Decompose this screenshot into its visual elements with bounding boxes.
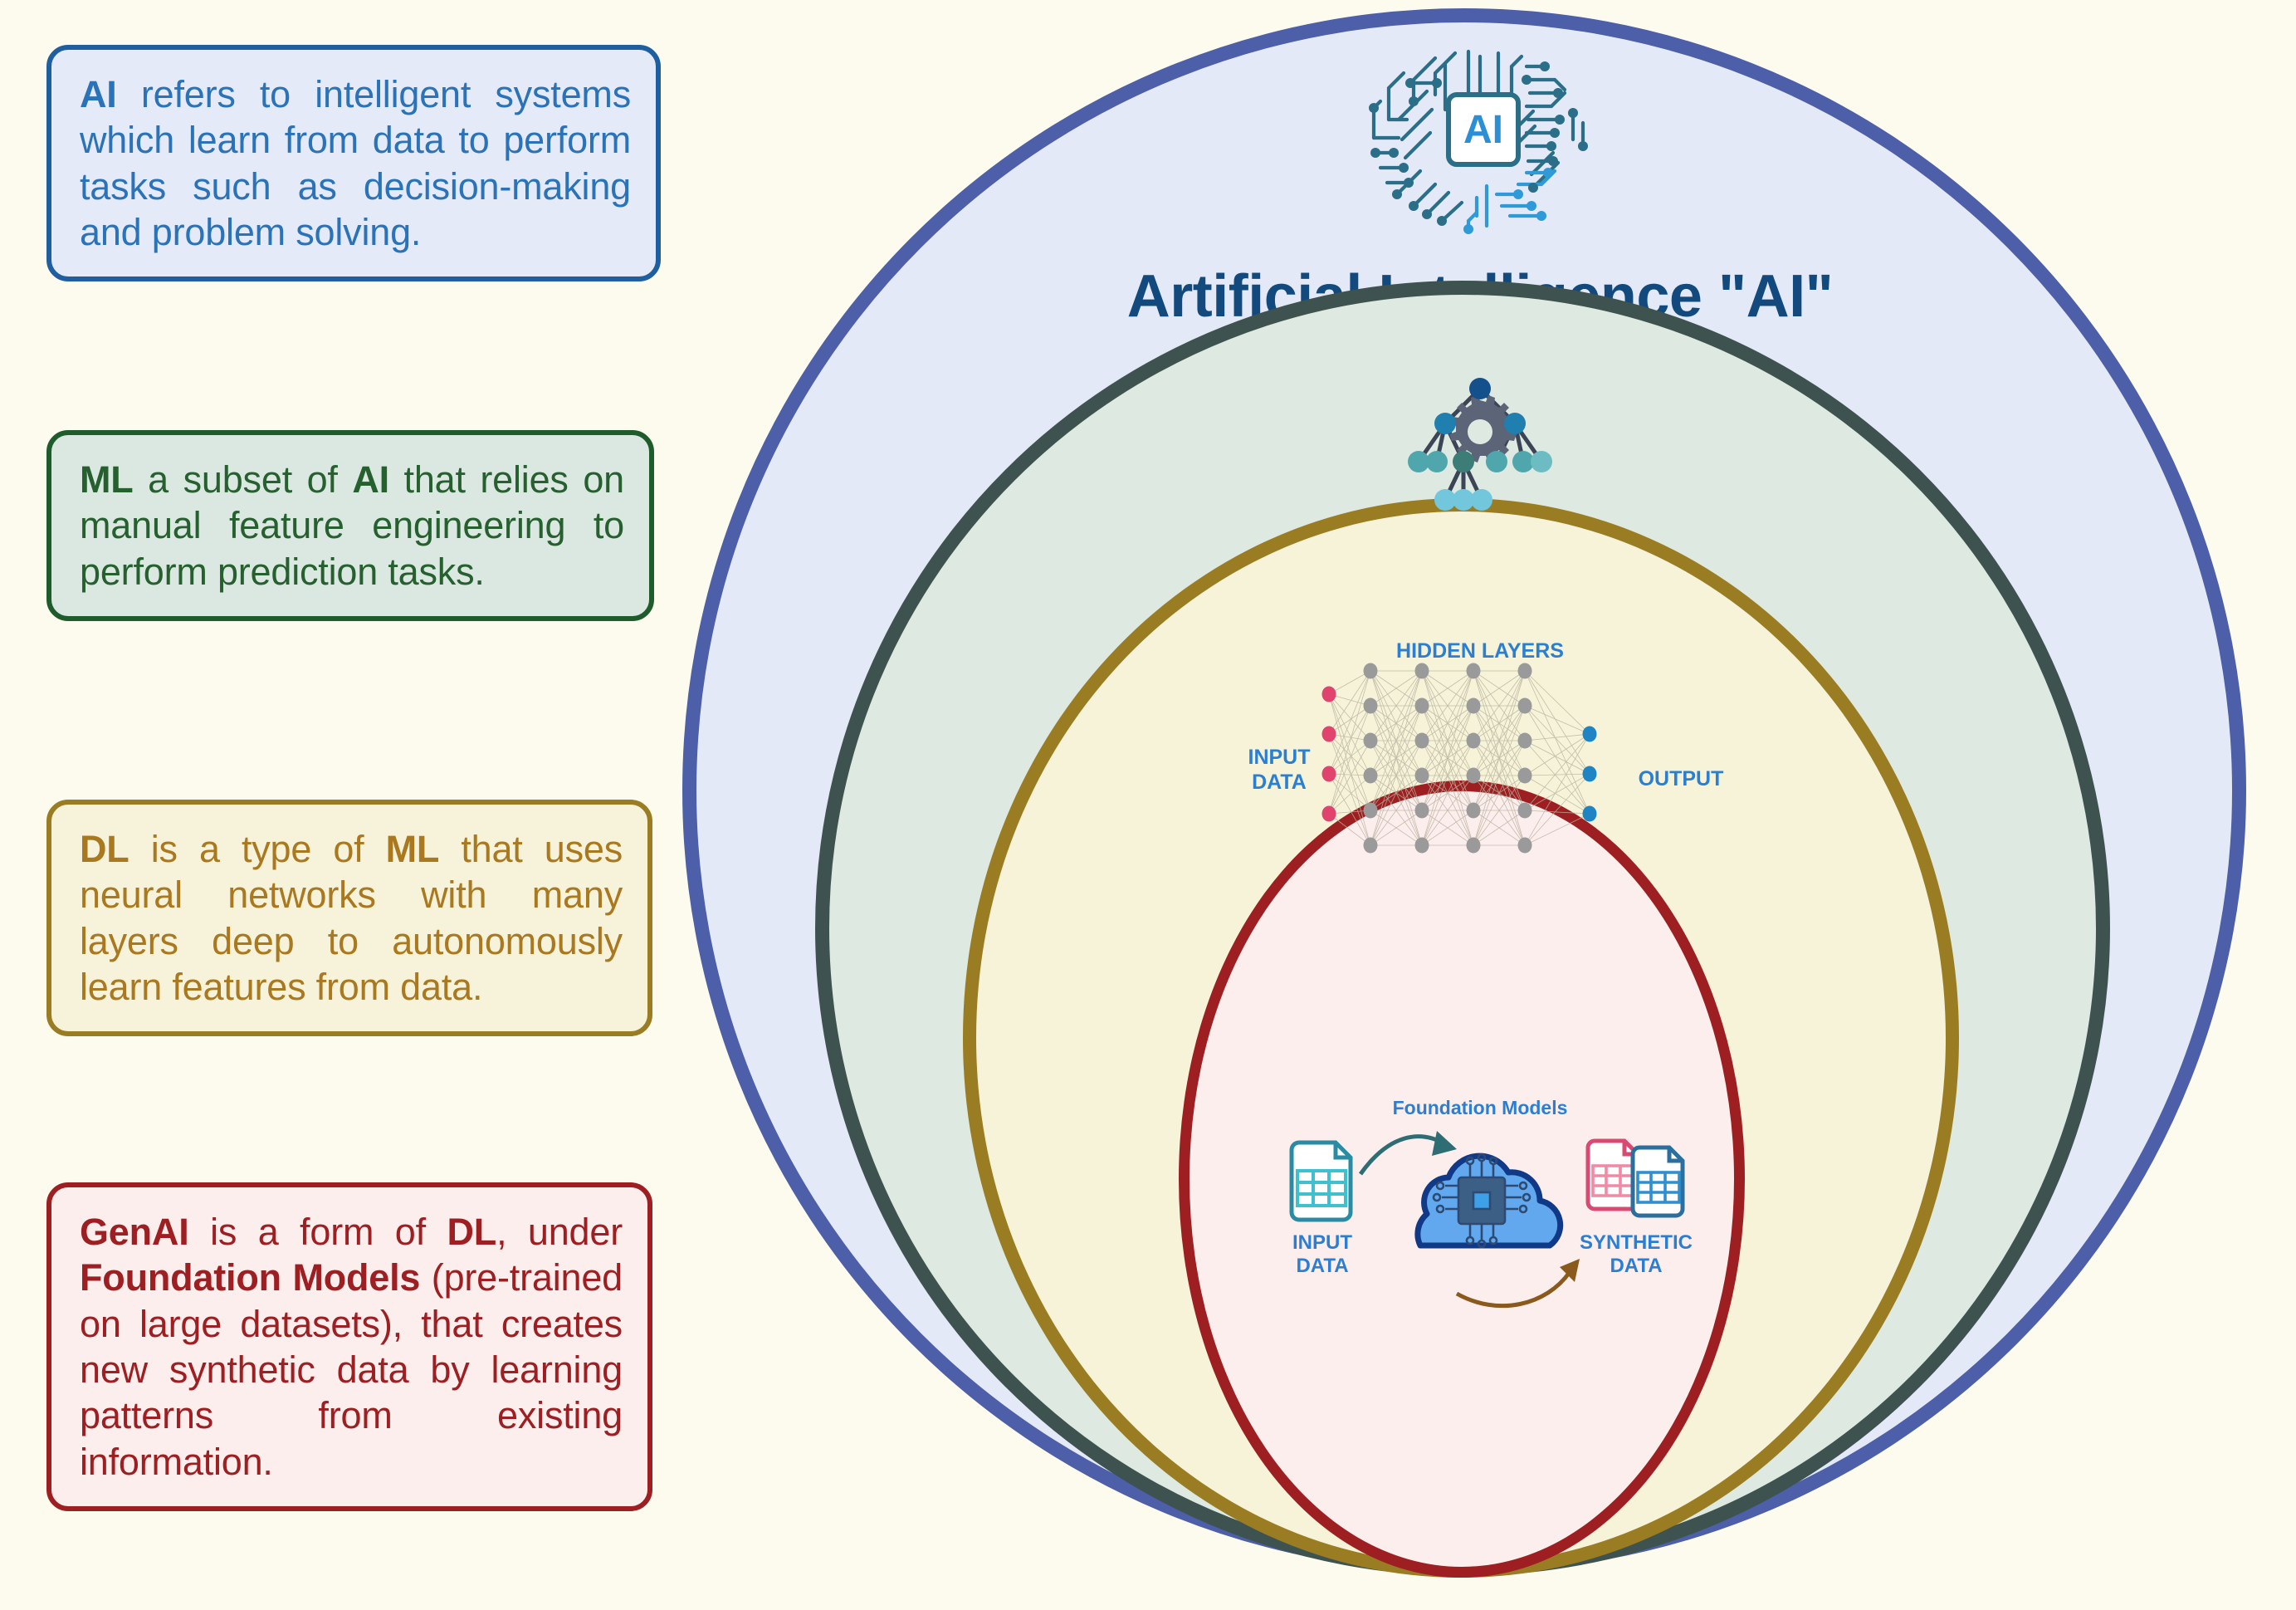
decision-tree-gear-icon xyxy=(664,372,2296,521)
dl-network-svg: HIDDEN LAYERS INPUT DATA OUTPUT xyxy=(1173,638,1787,887)
definition-card-ai: AI refers to intelligent systems which l… xyxy=(46,45,661,281)
tree-node xyxy=(1426,451,1448,472)
hidden-node xyxy=(1364,768,1378,784)
hidden-node xyxy=(1467,768,1481,784)
definition-card-ai-text: AI refers to intelligent systems which l… xyxy=(80,71,631,255)
tree-node xyxy=(1434,413,1456,434)
tree-node xyxy=(1471,489,1492,511)
hidden-node xyxy=(1467,838,1481,854)
foundation-models-label: Foundation Models xyxy=(1393,1097,1568,1118)
synthetic-data-doc-blue-icon xyxy=(1633,1148,1683,1216)
tree-node xyxy=(1531,451,1552,472)
definitions-column: AI refers to intelligent systems which l… xyxy=(46,0,661,1610)
output-node xyxy=(1583,727,1597,742)
diagram-page: AI refers to intelligent systems which l… xyxy=(0,0,2296,1610)
input-node xyxy=(1322,806,1336,822)
definition-card-dl-text: DL is a type of ML that uses neural netw… xyxy=(80,826,623,1010)
genai-flow-svg: Foundation Models INPUT DATA xyxy=(1273,1094,1688,1335)
hidden-node xyxy=(1467,733,1481,749)
hidden-node xyxy=(1364,698,1378,714)
hidden-node xyxy=(1415,768,1429,784)
hidden-node xyxy=(1518,803,1532,819)
hidden-node xyxy=(1415,663,1429,679)
hidden-node xyxy=(1415,838,1429,854)
output-node xyxy=(1583,806,1597,822)
synthetic-data-doc-pink-icon xyxy=(1588,1141,1638,1209)
hidden-node xyxy=(1518,733,1532,749)
hidden-node xyxy=(1364,803,1378,819)
foundation-model-cloud-icon xyxy=(1418,1154,1561,1247)
ai-brain-chip-icon: AI xyxy=(664,40,2296,239)
output-label: OUTPUT xyxy=(1639,767,1724,790)
input-node xyxy=(1322,727,1336,742)
hidden-node xyxy=(1518,768,1532,784)
input-data-label-line1: INPUT xyxy=(1248,746,1311,769)
synthetic-data-label-line2: DATA xyxy=(1610,1255,1662,1277)
definition-card-genai: GenAI is a form of DL, under Foundation … xyxy=(46,1182,652,1511)
hidden-node xyxy=(1364,733,1378,749)
network-edges xyxy=(1329,671,1590,845)
definition-card-genai-text: GenAI is a form of DL, under Foundation … xyxy=(80,1209,623,1485)
synthetic-data-label-line1: SYNTHETIC xyxy=(1580,1231,1693,1254)
nested-circles-diagram: AI xyxy=(664,0,2296,1610)
hidden-node xyxy=(1518,663,1532,679)
input-data-label-line2: DATA xyxy=(1252,771,1307,794)
genai-input-label-line2: DATA xyxy=(1296,1255,1348,1277)
neural-network-icon: HIDDEN LAYERS INPUT DATA OUTPUT xyxy=(664,638,2296,891)
input-to-model-arrow xyxy=(1361,1131,1457,1174)
hidden-node xyxy=(1518,698,1532,714)
input-node xyxy=(1322,687,1336,702)
tree-node xyxy=(1486,451,1507,472)
hidden-node xyxy=(1518,838,1532,854)
ai-chip-label: AI xyxy=(1463,108,1503,152)
tree-node-root xyxy=(1469,378,1491,399)
definition-card-dl: DL is a type of ML that uses neural netw… xyxy=(46,800,652,1036)
hidden-layers-label: HIDDEN LAYERS xyxy=(1396,639,1564,663)
hidden-node xyxy=(1415,698,1429,714)
hidden-node xyxy=(1467,663,1481,679)
input-data-doc-icon xyxy=(1292,1143,1351,1220)
output-node xyxy=(1583,766,1597,782)
tree-node xyxy=(1453,451,1474,472)
model-to-synthetic-arrow xyxy=(1457,1259,1580,1306)
hidden-node xyxy=(1415,803,1429,819)
hidden-node xyxy=(1364,663,1378,679)
definition-card-ml: ML a subset of AI that relies on manual … xyxy=(46,430,654,621)
genai-pipeline-icon: Foundation Models INPUT DATA xyxy=(664,1094,2296,1339)
hidden-node xyxy=(1467,803,1481,819)
definition-card-ml-text: ML a subset of AI that relies on manual … xyxy=(80,457,624,595)
hidden-node xyxy=(1467,698,1481,714)
tree-node xyxy=(1504,413,1526,434)
input-node xyxy=(1322,766,1336,782)
hidden-node xyxy=(1415,733,1429,749)
hidden-node xyxy=(1364,838,1378,854)
ml-tree-svg xyxy=(1397,372,1563,517)
ai-brain-svg: AI xyxy=(1356,40,1605,235)
genai-input-label-line1: INPUT xyxy=(1292,1231,1352,1254)
